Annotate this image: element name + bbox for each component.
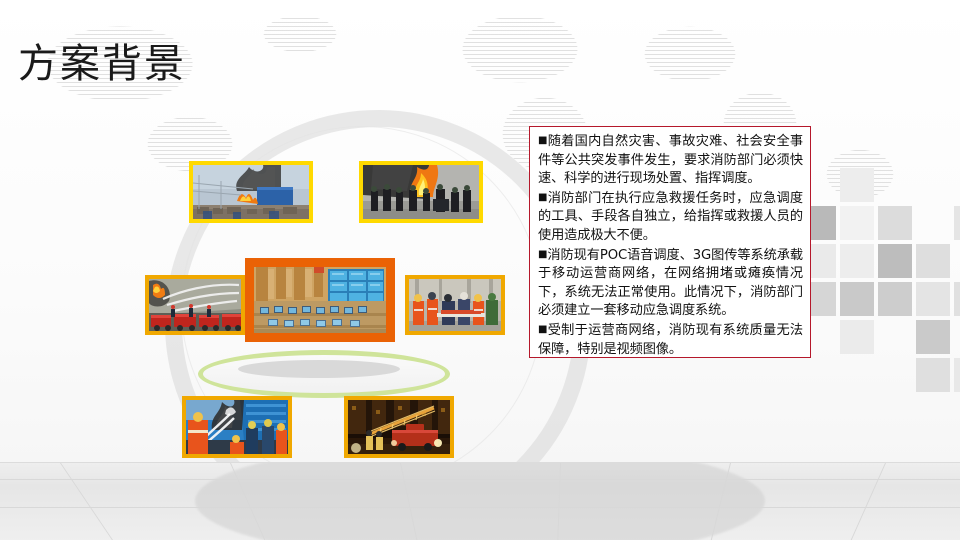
floor-shadow bbox=[195, 462, 765, 540]
photo-firefighters-water[interactable] bbox=[182, 396, 292, 458]
pedestal-core bbox=[238, 360, 400, 378]
mosaic-square bbox=[878, 206, 912, 240]
photo-rescue-stretcher[interactable] bbox=[405, 275, 505, 335]
photo-command-center[interactable] bbox=[245, 258, 395, 342]
page-title: 方案背景 bbox=[18, 44, 186, 84]
bullet-icon: ■ bbox=[538, 249, 547, 260]
floor-line-h bbox=[0, 479, 960, 480]
slide-root: 方案背景 bbox=[0, 0, 960, 540]
floor-line-v bbox=[60, 463, 114, 540]
paragraph-text: 消防部门在执行应急救援任务时，应急调度的工具、手段各自独立，给指挥或救援人员的使… bbox=[538, 191, 803, 243]
mosaic-square bbox=[840, 168, 874, 202]
photo-firefighters-water-image bbox=[186, 400, 288, 454]
textbox-paragraph-3: ■消防现有POC语音调度、3G图传等系统承载于移动运营商网络，在网络拥堵或瘫痪情… bbox=[538, 246, 803, 321]
mosaic-square bbox=[954, 358, 960, 392]
textbox-paragraph-2: ■消防部门在执行应急救援任务时，应急调度的工具、手段各自独立，给指挥或救援人员的… bbox=[538, 189, 803, 246]
mosaic-square bbox=[840, 320, 874, 354]
mosaic-square bbox=[878, 282, 912, 316]
photo-ladder-truck-night[interactable] bbox=[344, 396, 454, 458]
photo-fire-trucks-image bbox=[149, 279, 241, 331]
photo-fire-trucks[interactable] bbox=[145, 275, 245, 335]
photo-ladder-truck-night-image bbox=[348, 400, 450, 454]
bullet-icon: ■ bbox=[538, 135, 548, 146]
bullet-icon: ■ bbox=[538, 192, 548, 203]
photo-rescue-stretcher-image bbox=[409, 279, 501, 331]
photo-command-center-image bbox=[254, 267, 386, 333]
textbox-paragraph-4: ■受制于运营商网络，消防现有系统质量无法保障，特别是视频图像。 bbox=[538, 321, 803, 359]
mosaic-square bbox=[916, 358, 950, 392]
perspective-floor bbox=[0, 462, 960, 540]
mosaic-decoration bbox=[820, 168, 960, 368]
photo-firefighters-flame-image bbox=[363, 165, 479, 219]
bullet-icon: ■ bbox=[538, 324, 548, 335]
mosaic-square bbox=[840, 282, 874, 316]
paragraph-text: 随着国内自然灾害、事故灾难、社会安全事件等公共突发事件发生，要求消防部门必须快速… bbox=[538, 134, 803, 186]
textbox-paragraph-1: ■随着国内自然灾害、事故灾难、社会安全事件等公共突发事件发生，要求消防部门必须快… bbox=[538, 132, 803, 189]
floor-line-v bbox=[850, 463, 886, 540]
mosaic-square bbox=[916, 320, 950, 354]
mosaic-square bbox=[954, 282, 960, 316]
mosaic-square bbox=[840, 244, 874, 278]
mosaic-square bbox=[916, 282, 950, 316]
paragraph-text: 消防现有POC语音调度、3G图传等系统承载于移动运营商网络，在网络拥堵或瘫痪情况… bbox=[538, 248, 803, 319]
mosaic-square bbox=[954, 206, 960, 240]
paragraph-text: 受制于运营商网络，消防现有系统质量无法保障，特别是视频图像。 bbox=[538, 323, 803, 357]
floor-line-h bbox=[0, 507, 960, 508]
photo-industrial-fire[interactable] bbox=[189, 161, 313, 223]
photo-firefighters-flame[interactable] bbox=[359, 161, 483, 223]
background-description-textbox: ■随着国内自然灾害、事故灾难、社会安全事件等公共突发事件发生，要求消防部门必须快… bbox=[529, 126, 811, 358]
mosaic-square bbox=[878, 244, 912, 278]
mosaic-square bbox=[916, 244, 950, 278]
photo-industrial-fire-image bbox=[193, 165, 309, 219]
mosaic-square bbox=[840, 206, 874, 240]
